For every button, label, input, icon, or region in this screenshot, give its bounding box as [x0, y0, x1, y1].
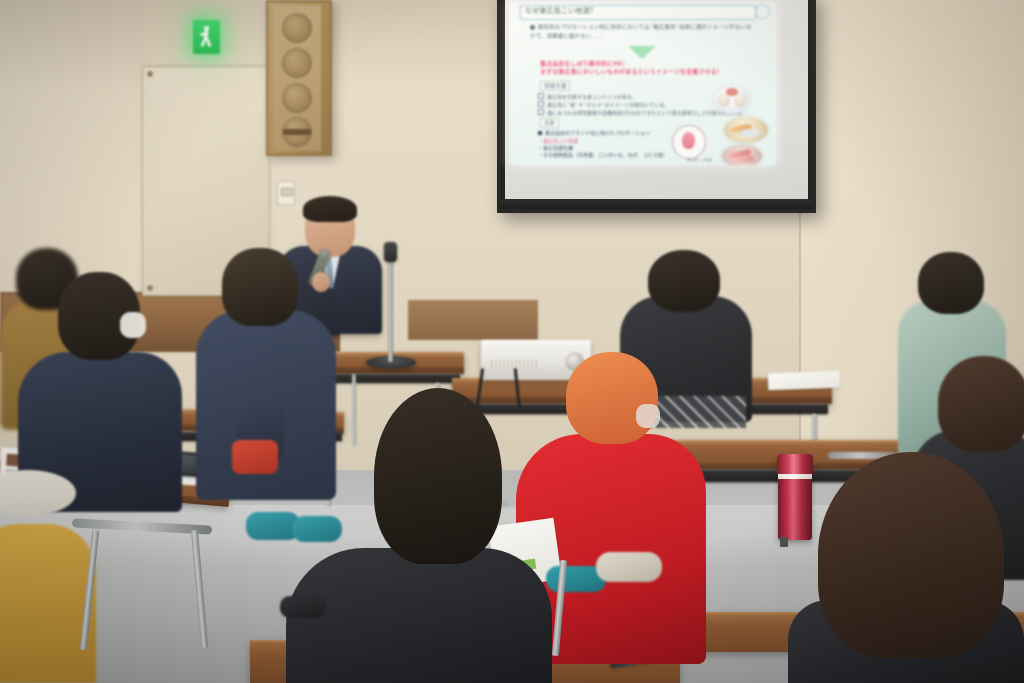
projected-slide: なぜ東広島こい地酒？ 既存的なプロモーション特に県外においては "東広島市" 自…	[510, 2, 776, 165]
shoe	[596, 552, 662, 582]
slide-policy-4: ・その他特産品（灰持酒、こいがいも、ねぎ、コビス他）	[538, 152, 668, 159]
microphone-stand-pole	[388, 258, 393, 362]
presenter-hand	[312, 272, 330, 292]
table-leg	[352, 374, 356, 446]
brand-logo-caption: 東広島こい地酒	[687, 158, 712, 163]
emergency-exit-sign	[193, 20, 220, 54]
thermos-cup	[780, 537, 788, 547]
slide-section-goal: 目指す姿	[540, 81, 570, 91]
speaker-port-slot	[283, 129, 311, 135]
wall-wainscot-right	[408, 300, 538, 340]
screen-surface: なぜ東広島こい地酒？ 既存的なプロモーション特に県外においては "東広島市" 自…	[505, 0, 808, 199]
wall-switch-plate	[277, 181, 295, 205]
microphone-stand-head	[384, 242, 397, 262]
door-hinge-icon	[147, 71, 153, 77]
slide-bullet-text: 既存的なプロモーション特に県外においては "東広島市" 自体に酒のイメージがない…	[530, 25, 752, 40]
speaker-driver-icon	[282, 83, 312, 113]
slide-check-3: 酒にまつわる研究開発や品種改良が行われてきたという事の素晴らしさが語られている。	[538, 109, 746, 117]
shoe	[280, 596, 326, 618]
slide-highlight-2: まずは東広島においしいものがあるというイメージを定着させる！	[540, 67, 723, 76]
slide-check-2: 東広島に "食" や "グルメ" のイメージが紐付いている。	[538, 101, 669, 109]
running-person-icon	[199, 26, 214, 48]
slide-check-1: 東広島を代表する食コンテンツがある。	[538, 93, 637, 101]
red-thermos-flask	[778, 455, 812, 540]
slide-policy-3: ・東広島産牡蠣	[538, 145, 573, 152]
slide-section-policy: 方針	[540, 118, 559, 128]
seafood-platter-photo	[724, 117, 768, 143]
down-arrow-icon	[628, 46, 656, 59]
brand-logo-mark	[672, 125, 706, 159]
speaker-driver-icon	[282, 48, 312, 78]
slide-policy-2: ・東広島こい地酒	[538, 138, 578, 145]
slide-title: なぜ東広島こい地酒？	[520, 5, 756, 20]
bullet-dot-icon	[530, 25, 535, 30]
sashimi-photo	[722, 145, 762, 165]
shoe	[292, 516, 342, 542]
slide-decoration-circle	[755, 4, 770, 19]
white-papers	[768, 371, 841, 391]
wall-mounted-speaker	[266, 0, 332, 156]
door-hinge-icon	[147, 285, 153, 291]
slide-bullet: 既存的なプロモーション特に県外においては "東広島市" 自体に酒のイメージがない…	[530, 24, 755, 41]
slide-policy-1: 重点品目のブランド化に向けたプロモーション	[538, 130, 650, 137]
presenter-hair	[303, 196, 357, 222]
projection-screen: なぜ東広島こい地酒？ 既存的なプロモーション特に県外においては "東広島市" 自…	[497, 0, 816, 213]
screen-bottom-bar	[501, 199, 812, 209]
oysters-illustration	[714, 86, 750, 114]
seminar-room-photo: なぜ東広島こい地酒？ 既存的なプロモーション特に県外においては "東広島市" 自…	[0, 0, 1024, 683]
speaker-driver-icon	[282, 13, 312, 43]
